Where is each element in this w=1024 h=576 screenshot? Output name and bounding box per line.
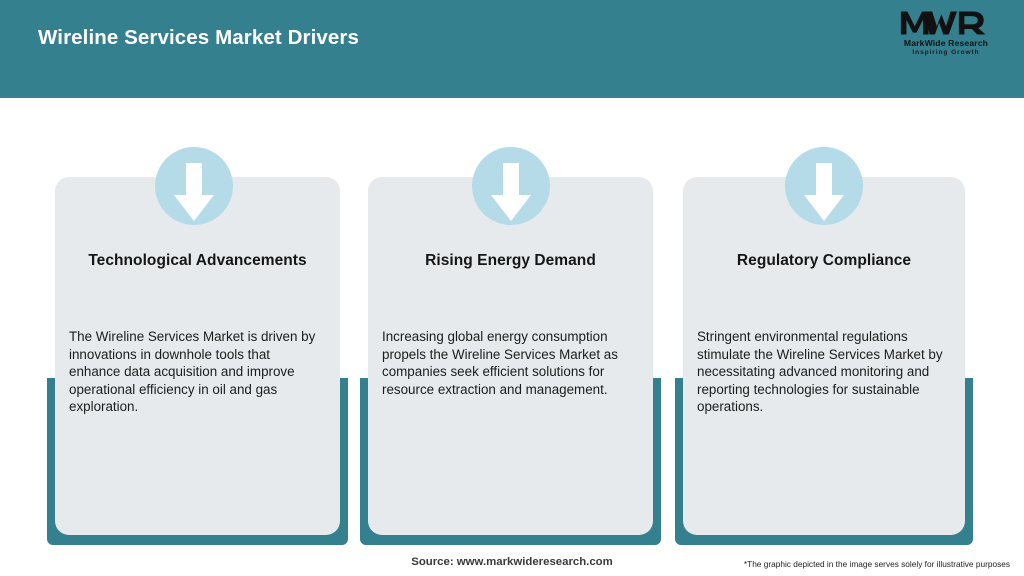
brand-logo: MarkWide Research Inspiring Growth [890, 8, 1002, 64]
header-bar: Wireline Services Market Drivers MarkWid… [0, 0, 1024, 98]
card-body: Increasing global energy consumption pro… [382, 328, 635, 398]
brand-name: MarkWide Research [890, 38, 1002, 48]
card-heading: Technological Advancements [47, 252, 348, 270]
card-body: Stringent environmental regulations stim… [697, 328, 951, 416]
mwr-logo-icon [900, 8, 992, 38]
arrow-down-icon [489, 163, 533, 223]
footer-disclaimer: *The graphic depicted in the image serve… [744, 559, 1010, 569]
arrow-down-icon [172, 163, 216, 223]
card-icon-circle [472, 147, 550, 225]
driver-card-2: Rising Energy Demand Increasing global e… [360, 140, 661, 550]
card-icon-circle [785, 147, 863, 225]
card-heading: Regulatory Compliance [675, 252, 973, 270]
card-heading: Rising Energy Demand [360, 252, 661, 270]
card-body: The Wireline Services Market is driven b… [69, 328, 322, 416]
card-icon-circle [155, 147, 233, 225]
arrow-down-icon [802, 163, 846, 223]
brand-tagline: Inspiring Growth [890, 48, 1002, 57]
page-title: Wireline Services Market Drivers [38, 26, 359, 50]
driver-card-3: Regulatory Compliance Stringent environm… [675, 140, 973, 550]
driver-card-1: Technological Advancements The Wireline … [47, 140, 348, 550]
